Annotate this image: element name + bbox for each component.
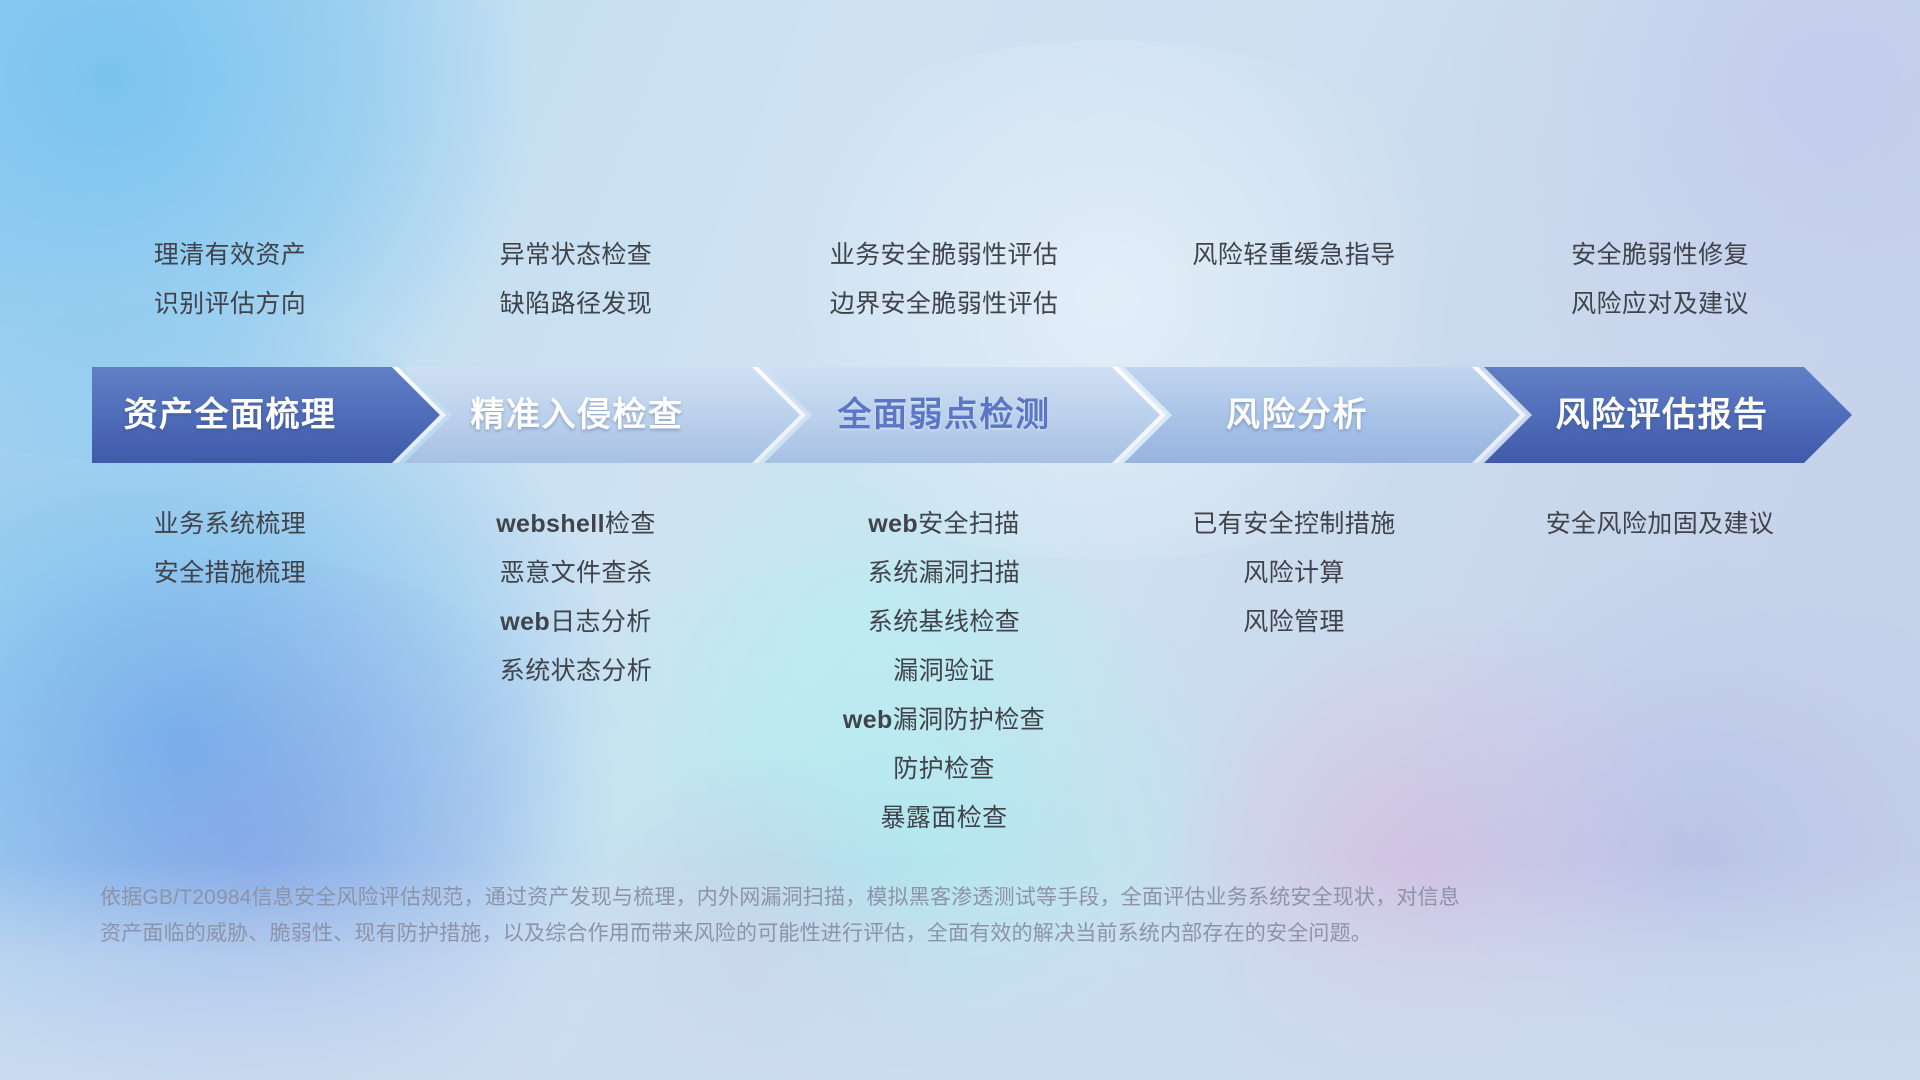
bottom-items-assessment-report: 安全风险加固及建议 bbox=[1546, 500, 1775, 549]
bottom-item-text: 漏洞防护检查 bbox=[893, 706, 1045, 734]
bottom-item-text: 已有安全控制措施 bbox=[1192, 510, 1395, 538]
diagram-content: 理清有效资产 识别评估方向 异常状态检查 缺陷路径发现 业务安全脆弱性评估 边界… bbox=[0, 0, 1920, 1080]
bottom-item-text: 系统基线检查 bbox=[868, 608, 1020, 636]
top-item: 安全脆弱性修复 bbox=[1571, 231, 1749, 280]
step-title-intrusion-check[interactable]: 精准入侵检查 bbox=[471, 367, 684, 463]
bottom-item: 防护检查 bbox=[843, 745, 1045, 794]
top-items-weakness-detection: 业务安全脆弱性评估 边界安全脆弱性评估 bbox=[830, 231, 1059, 329]
bottom-item: 风险管理 bbox=[1192, 598, 1395, 647]
bottom-item-text: 风险管理 bbox=[1243, 608, 1345, 636]
top-item: 业务安全脆弱性评估 bbox=[830, 231, 1059, 280]
bottom-item: 恶意文件查杀 bbox=[496, 549, 656, 598]
bottom-item: webshell检查 bbox=[496, 500, 656, 549]
bottom-item: 暴露面检查 bbox=[843, 794, 1045, 843]
top-item: 识别评估方向 bbox=[154, 280, 306, 329]
bottom-item-text: 业务系统梳理 bbox=[154, 510, 306, 538]
bottom-item: 漏洞验证 bbox=[843, 647, 1045, 696]
bottom-item: web漏洞防护检查 bbox=[843, 696, 1045, 745]
bottom-item: web日志分析 bbox=[496, 598, 656, 647]
top-item: 风险应对及建议 bbox=[1571, 280, 1749, 329]
bottom-item: 已有安全控制措施 bbox=[1192, 500, 1395, 549]
bottom-item: 安全措施梳理 bbox=[154, 549, 306, 598]
bottom-item-prefix: web bbox=[500, 608, 550, 636]
top-item: 理清有效资产 bbox=[154, 231, 306, 280]
bottom-item: 业务系统梳理 bbox=[154, 500, 306, 549]
bottom-item-text: 恶意文件查杀 bbox=[500, 559, 652, 587]
bottom-item-text: 系统状态分析 bbox=[500, 657, 652, 685]
top-item: 异常状态检查 bbox=[500, 231, 652, 280]
bottom-items-asset-inventory: 业务系统梳理安全措施梳理 bbox=[154, 500, 306, 598]
bottom-item: 系统漏洞扫描 bbox=[843, 549, 1045, 598]
bottom-item-text: 防护检查 bbox=[893, 755, 995, 783]
bottom-item-text: 检查 bbox=[605, 510, 656, 538]
top-item: 风险轻重缓急指导 bbox=[1192, 231, 1395, 280]
step-title-assessment-report[interactable]: 风险评估报告 bbox=[1556, 367, 1769, 463]
footer-note-line: 依据GB/T20984信息安全风险评估规范，通过资产发现与梳理，内外网漏洞扫描，… bbox=[100, 880, 1740, 916]
footer-note: 依据GB/T20984信息安全风险评估规范，通过资产发现与梳理，内外网漏洞扫描，… bbox=[100, 880, 1740, 952]
bottom-item-prefix: web bbox=[868, 510, 918, 538]
step-title-weakness-detection[interactable]: 全面弱点检测 bbox=[838, 367, 1051, 463]
bottom-item: 风险计算 bbox=[1192, 549, 1395, 598]
top-item: 边界安全脆弱性评估 bbox=[830, 280, 1059, 329]
bottom-items-risk-analysis: 已有安全控制措施风险计算风险管理 bbox=[1192, 500, 1395, 647]
bottom-items-intrusion-check: webshell检查恶意文件查杀web日志分析系统状态分析 bbox=[496, 500, 656, 696]
slide-canvas: 理清有效资产 识别评估方向 异常状态检查 缺陷路径发现 业务安全脆弱性评估 边界… bbox=[0, 0, 1920, 1080]
bottom-item-text: 暴露面检查 bbox=[880, 804, 1007, 832]
bottom-item-text: 风险计算 bbox=[1243, 559, 1345, 587]
bottom-item-prefix: webshell bbox=[496, 510, 605, 538]
bottom-item-text: 安全扫描 bbox=[918, 510, 1020, 538]
top-items-risk-analysis: 风险轻重缓急指导 bbox=[1192, 231, 1395, 280]
bottom-items-weakness-detection: web安全扫描系统漏洞扫描系统基线检查漏洞验证web漏洞防护检查防护检查暴露面检… bbox=[843, 500, 1045, 843]
top-items-asset-inventory: 理清有效资产 识别评估方向 bbox=[154, 231, 306, 329]
top-items-intrusion-check: 异常状态检查 缺陷路径发现 bbox=[500, 231, 652, 329]
bottom-item-text: 安全风险加固及建议 bbox=[1546, 510, 1775, 538]
step-title-asset-inventory[interactable]: 资产全面梳理 bbox=[124, 367, 337, 463]
bottom-item-text: 安全措施梳理 bbox=[154, 559, 306, 587]
bottom-item: 系统基线检查 bbox=[843, 598, 1045, 647]
bottom-item: 安全风险加固及建议 bbox=[1546, 500, 1775, 549]
bottom-item-text: 日志分析 bbox=[550, 608, 652, 636]
top-items-assessment-report: 安全脆弱性修复 风险应对及建议 bbox=[1571, 231, 1749, 329]
step-title-risk-analysis[interactable]: 风险分析 bbox=[1226, 367, 1368, 463]
bottom-item-prefix: web bbox=[843, 706, 893, 734]
process-arrow-banner: 资产全面梳理 精准入侵检查 全面弱点检测 风险分析 风险评估报告 bbox=[92, 367, 1852, 463]
footer-note-line: 资产面临的威胁、脆弱性、现有防护措施，以及综合作用而带来风险的可能性进行评估，全… bbox=[100, 916, 1740, 952]
bottom-item-text: 系统漏洞扫描 bbox=[868, 559, 1020, 587]
bottom-item: 系统状态分析 bbox=[496, 647, 656, 696]
top-item: 缺陷路径发现 bbox=[500, 280, 652, 329]
bottom-item: web安全扫描 bbox=[843, 500, 1045, 549]
bottom-item-text: 漏洞验证 bbox=[893, 657, 995, 685]
